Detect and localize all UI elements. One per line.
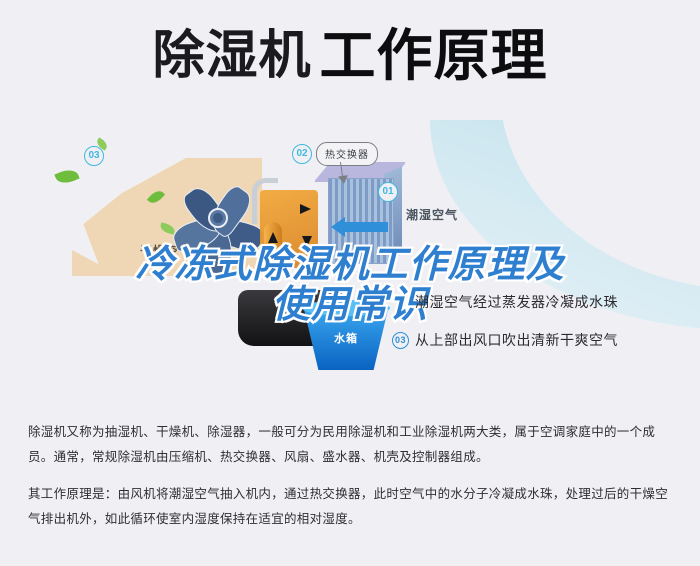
- step-text-02: 潮湿空气经过蒸发器冷凝成水珠: [415, 292, 618, 312]
- step-text-03: 从上部出风口吹出清新干爽空气: [415, 330, 618, 350]
- step-badge-03: 03: [392, 332, 409, 349]
- flow-arrow-down-icon: [302, 236, 312, 247]
- infographic-page: 除湿机工作原理 干燥空气 03: [0, 0, 700, 566]
- step-caption-list: 02 潮湿空气经过蒸发器冷凝成水珠 03 从上部出风口吹出清新干爽空气: [392, 292, 692, 368]
- page-title-part2: 工作原理: [320, 28, 548, 84]
- body-paragraph-1: 除湿机又称为抽湿机、干燥机、除湿器，一般可分为民用除湿机和工业除湿机两大类，属于…: [28, 420, 676, 470]
- water-tank-label: 水箱: [334, 330, 358, 346]
- step-caption-item: 03 从上部出风口吹出清新干爽空气: [392, 330, 692, 350]
- body-paragraph-2: 其工作原理是：由风机将潮湿空气抽入机内，通过热交换器，此时空气中的水分子冷凝成水…: [28, 482, 676, 532]
- air-intake-arrow-icon: [344, 222, 388, 232]
- humid-air-label: 潮湿空气: [406, 206, 458, 223]
- flow-arrow-up-icon: [268, 232, 278, 243]
- badge-01-humid-air: 01: [378, 182, 398, 202]
- step-caption-item: 02 潮湿空气经过蒸发器冷凝成水珠: [392, 292, 692, 312]
- leaf-icon: [54, 166, 79, 186]
- badge-03-dry-air: 03: [84, 146, 104, 166]
- refrigerant-coil-assembly: [252, 178, 326, 274]
- humid-air-sweep-cutout: [500, 118, 700, 290]
- water-tank-rim: [302, 300, 390, 316]
- water-tank: 水箱: [300, 300, 392, 372]
- article-body: 除湿机又称为抽湿机、干燥机、除湿器，一般可分为民用除湿机和工业除湿机两大类，属于…: [28, 420, 676, 532]
- heat-exchanger-callout: 热交换器: [316, 142, 378, 166]
- page-title-part1: 除湿机: [152, 28, 311, 84]
- page-title: 除湿机工作原理: [0, 28, 700, 84]
- flow-arrow-right-icon: [300, 204, 311, 214]
- fan-hub-center: [213, 213, 223, 223]
- badge-02-heat-exchanger: 02: [292, 144, 312, 164]
